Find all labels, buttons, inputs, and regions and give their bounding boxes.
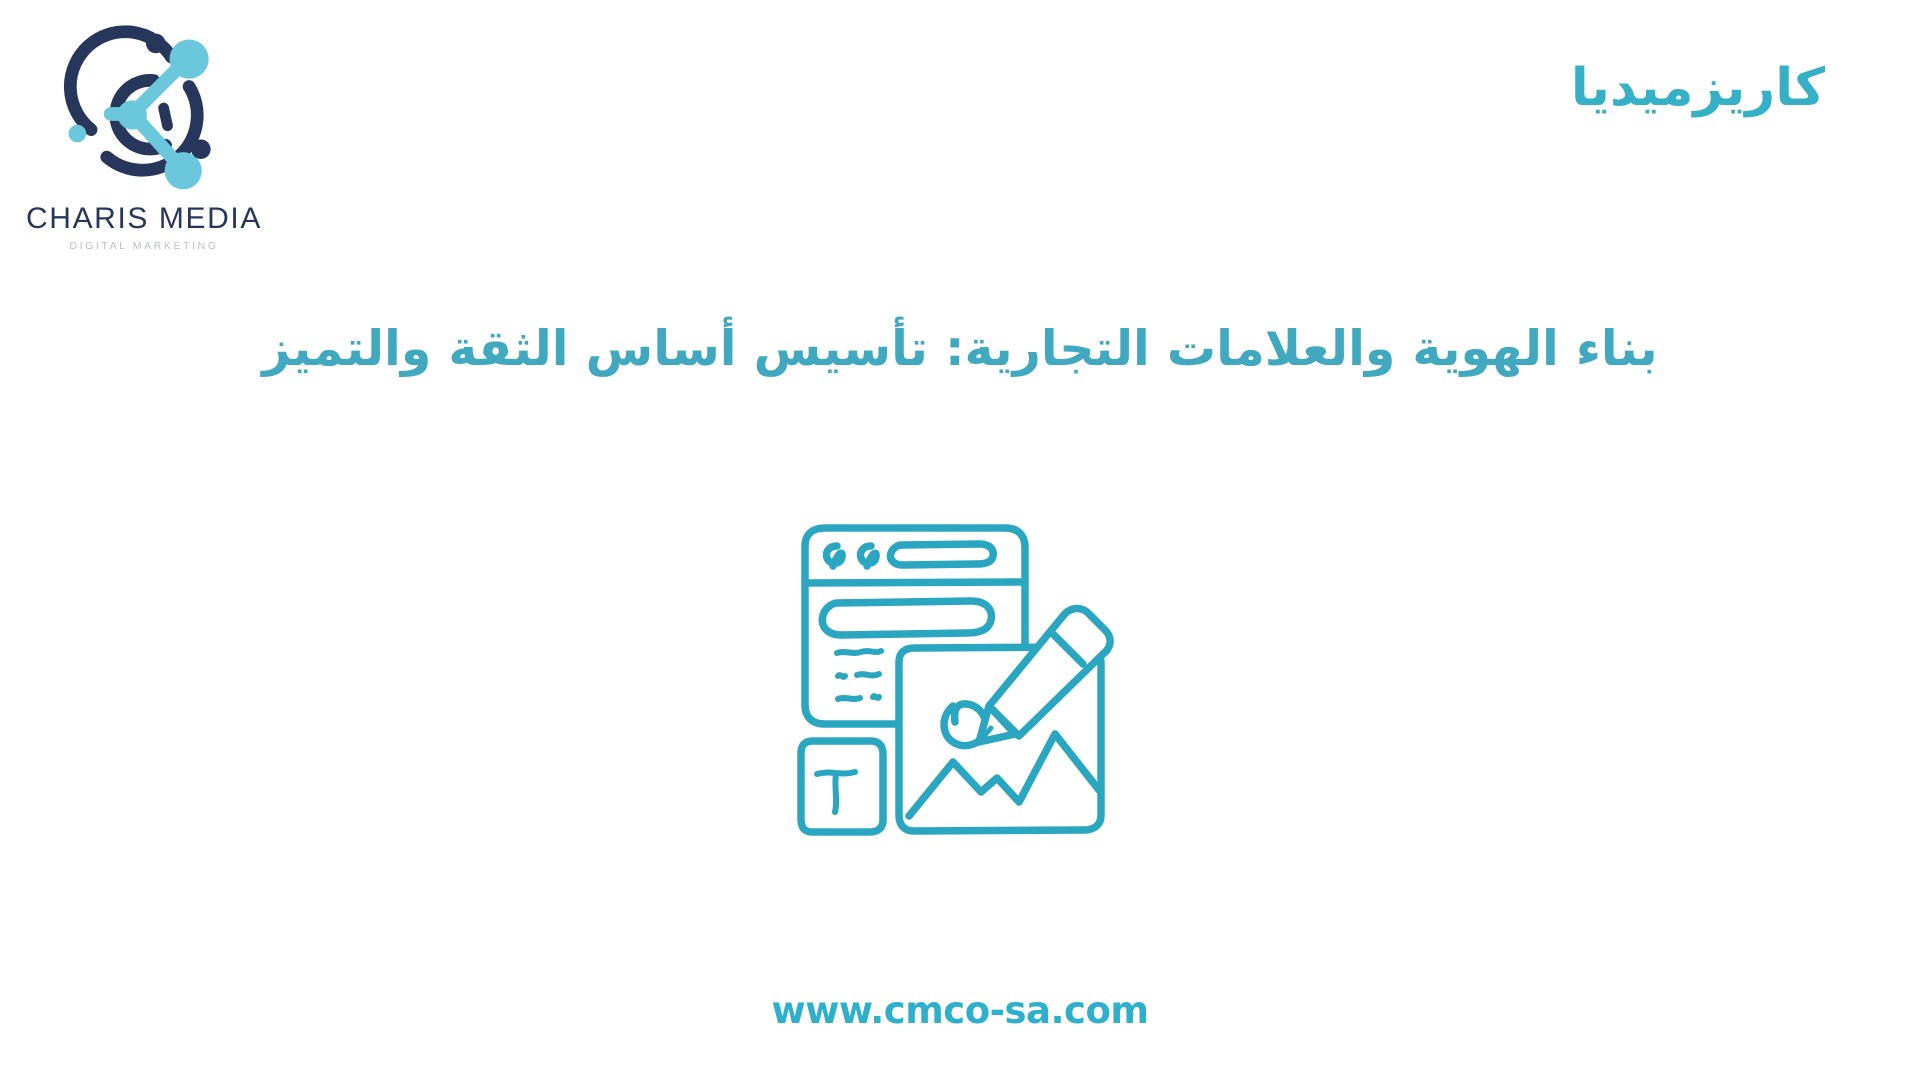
text-tool-box bbox=[801, 741, 883, 832]
logo-wordmark: CHARIS MEDIA bbox=[14, 204, 274, 234]
browser-toolbar-divider bbox=[806, 582, 1024, 583]
brand-arabic-name: كاريزميديا bbox=[1571, 62, 1825, 114]
text-line-1 bbox=[837, 651, 881, 653]
text-line-2b bbox=[857, 674, 879, 675]
charis-media-network-logo-icon bbox=[46, 14, 242, 210]
text-line-3b bbox=[873, 696, 879, 698]
banner-canvas: CHARIS MEDIA DIGITAL MARKETING كاريزميدي… bbox=[0, 0, 1920, 1080]
illustration-container bbox=[0, 490, 1920, 850]
web-design-browser-pencil-image-illustration-icon bbox=[775, 490, 1145, 850]
footer-website-url[interactable]: www.cmco-sa.com bbox=[0, 992, 1920, 1029]
text-line-3a bbox=[838, 698, 860, 699]
text-line-2a bbox=[838, 675, 845, 677]
browser-dot-2 bbox=[860, 546, 876, 566]
logo-block: CHARIS MEDIA DIGITAL MARKETING bbox=[14, 14, 274, 252]
text-tool-t-stem bbox=[835, 774, 836, 812]
browser-address-bar bbox=[891, 544, 994, 565]
logo-tagline: DIGITAL MARKETING bbox=[14, 241, 274, 252]
page-title: بناء الهوية والعلامات التجارية: تأسيس أس… bbox=[0, 318, 1920, 379]
browser-dot-1 bbox=[826, 546, 842, 566]
browser-content-bar bbox=[822, 601, 991, 635]
